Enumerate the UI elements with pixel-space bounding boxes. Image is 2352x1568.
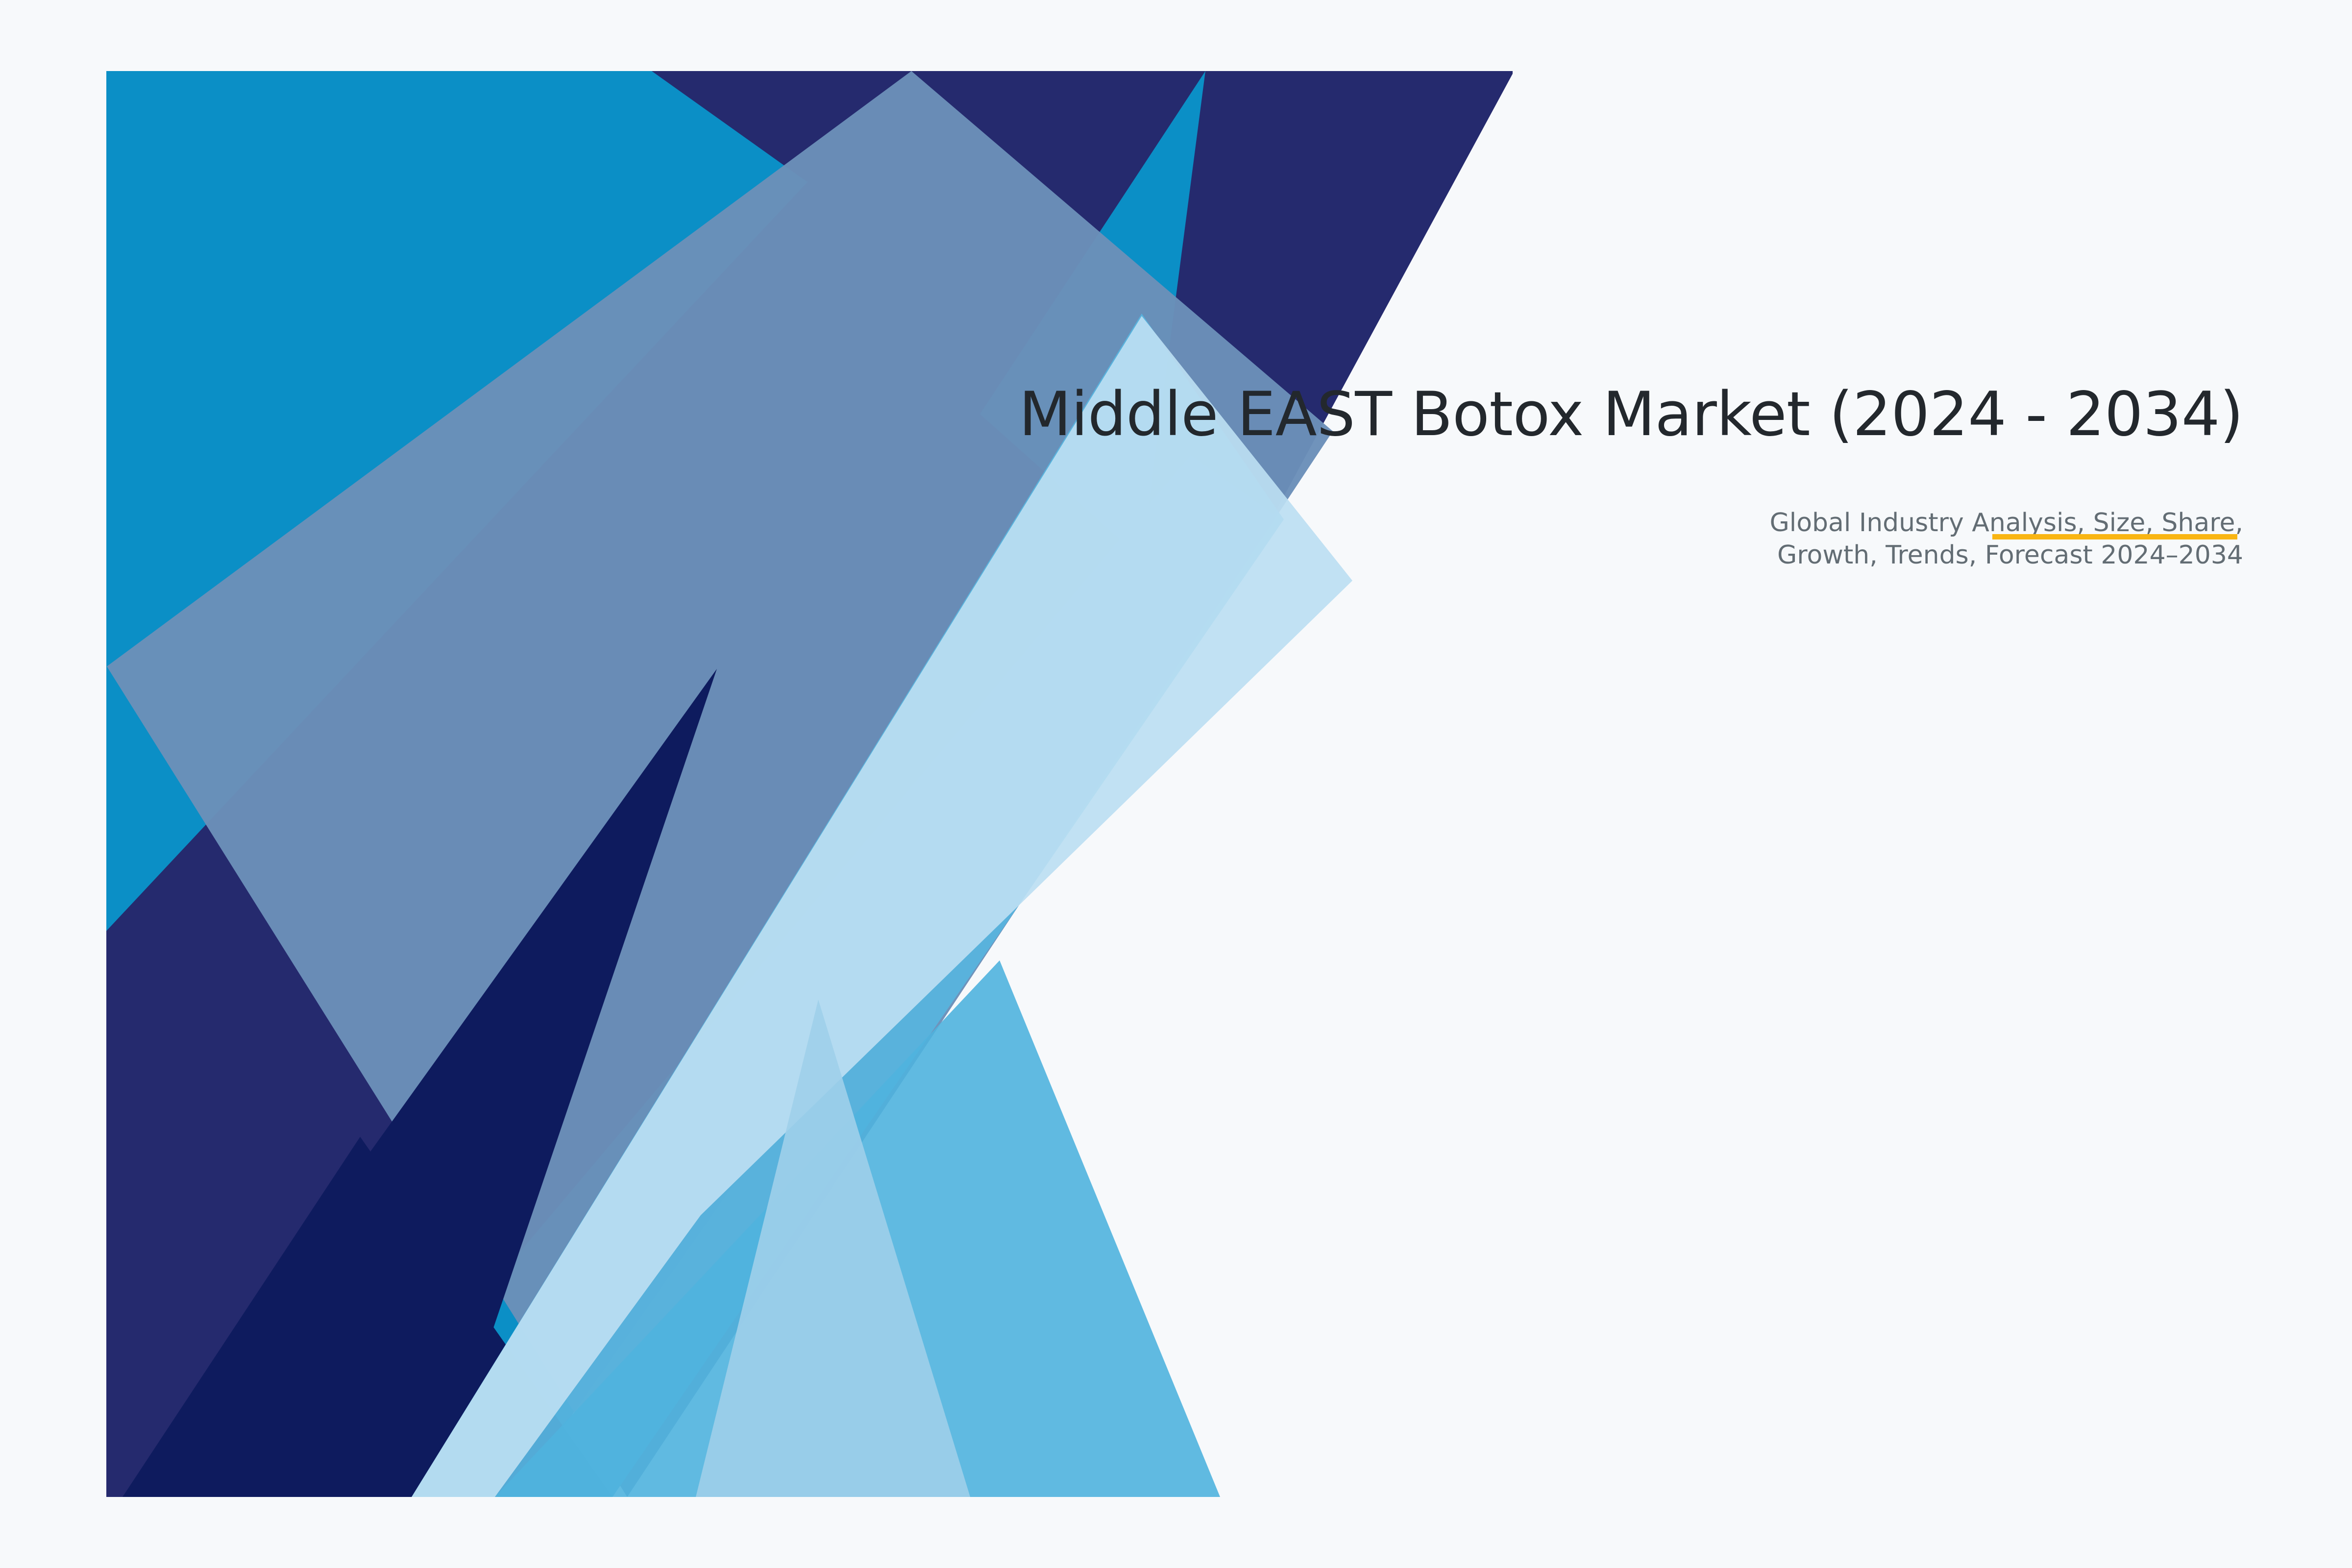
pale-blue-bottom-triangle	[696, 1000, 970, 1497]
deep-navy-lower-wedge	[122, 1137, 612, 1497]
cover-text-block: Middle EAST Botox Market (2024 - 2034) G…	[989, 377, 2243, 572]
sky-blue-lower-wedge	[495, 960, 1220, 1497]
slide-canvas: Middle EAST Botox Market (2024 - 2034) G…	[0, 0, 2352, 1568]
title-wrap: Middle EAST Botox Market (2024 - 2034)	[989, 377, 2243, 453]
abstract-polygon-cover-graphic	[0, 0, 2352, 1568]
title-underline-accent	[1992, 534, 2237, 539]
cyan-top-left-wedge	[106, 71, 1514, 1497]
page-title: Middle EAST Botox Market (2024 - 2034)	[989, 377, 2243, 453]
steel-blue-quad	[107, 71, 1333, 1497]
navy-diagonal-band	[106, 71, 1514, 1497]
deep-navy-spike	[122, 669, 717, 1497]
